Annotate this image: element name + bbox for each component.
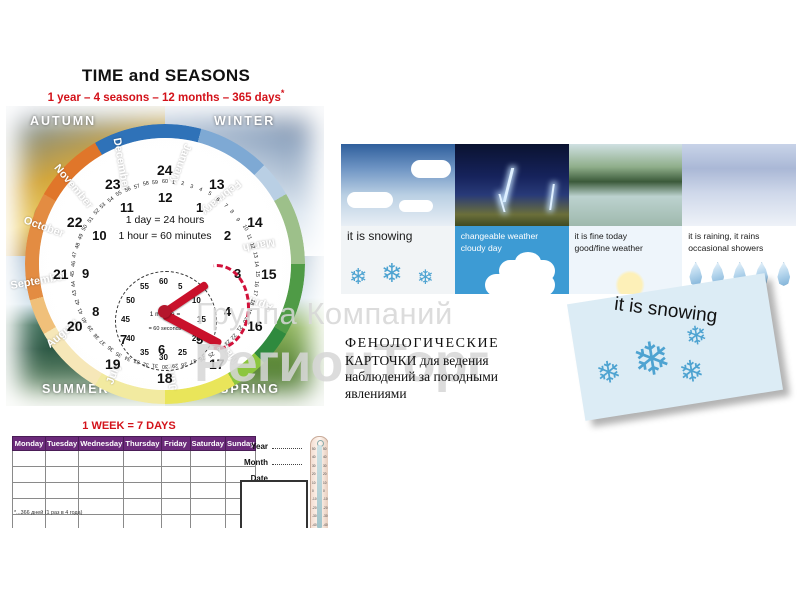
thermometer-tick: 30	[312, 464, 316, 468]
week-header-thursday: Thursday	[124, 437, 161, 451]
year-label: Year	[240, 442, 268, 451]
snowflake-icon: ❄	[349, 266, 367, 288]
table-cell[interactable]	[161, 483, 190, 499]
thermometer-tick: -40	[312, 523, 317, 527]
snowflake-icon: ❄	[629, 333, 674, 384]
thermometer-tick: -20	[323, 506, 328, 510]
hour-outer-20: 20	[67, 318, 83, 334]
clock-hub	[158, 305, 171, 318]
thermometer-tick: 50	[323, 447, 327, 451]
week-header-friday: Friday	[161, 437, 190, 451]
product-description: ФЕНОЛОГИЧЕСКИЕ КАРТОЧКИ для ведения набл…	[345, 336, 595, 402]
weather-card-line-2: good/fine weather	[575, 242, 677, 254]
table-cell[interactable]	[124, 451, 161, 467]
table-cell[interactable]	[79, 499, 124, 515]
minute-tick-45: 45	[70, 271, 76, 277]
subdial-mark-55: 55	[140, 282, 149, 291]
hour-inner-9: 9	[82, 266, 89, 281]
sun-icon	[615, 270, 645, 294]
minute-tick-1: 1	[171, 179, 175, 185]
poster-subtitle-text: 1 year – 4 seasons – 12 months – 365 day…	[48, 92, 281, 104]
thermometer-tick: -30	[323, 514, 328, 518]
thermometer-tick: 20	[323, 472, 327, 476]
week-header-wednesday: Wednesday	[79, 437, 124, 451]
weather-card-label: it is snowing	[347, 230, 449, 242]
table-header-row: MondayTuesdayWednesdayThursdayFridaySatu…	[13, 437, 256, 451]
thermometer-tick: -20	[312, 506, 317, 510]
weather-card-line-1: it is fine today	[575, 230, 677, 242]
weather-card-line-2: cloudy day	[461, 242, 563, 254]
photo-lake-forest	[569, 144, 683, 226]
hour-outer-13: 13	[209, 176, 225, 192]
minute-tick-44: 44	[70, 280, 77, 287]
cloud-shape	[411, 160, 451, 178]
table-cell[interactable]	[79, 515, 124, 529]
snowflake-icon: ❄	[417, 268, 434, 288]
subdial-mark-5: 5	[178, 282, 182, 291]
center-line-1: 1 day = 24 hours	[6, 214, 324, 226]
subdial-mark-30: 30	[159, 353, 168, 362]
table-cell[interactable]	[161, 499, 190, 515]
poster-subtitle: 1 year – 4 seasons – 12 months – 365 day…	[4, 88, 328, 104]
table-cell[interactable]	[124, 499, 161, 515]
table-body	[13, 451, 256, 529]
snowflake-icon: ❄	[677, 356, 707, 390]
thermometer-tick: 0	[312, 489, 314, 493]
table-cell[interactable]	[79, 483, 124, 499]
description-line-4: явлениями	[345, 386, 595, 403]
season-label-winter: WINTER	[214, 114, 275, 128]
subdial-mark-35: 35	[140, 348, 149, 357]
week-title: 1 WEEK = 7 DAYS	[4, 420, 254, 432]
weather-card-label: changeable weather cloudy day	[461, 230, 563, 254]
cloud-icon	[485, 274, 555, 294]
table-cell[interactable]	[124, 483, 161, 499]
thermometer-tick: -10	[312, 497, 317, 501]
table-cell[interactable]	[161, 515, 190, 529]
subtitle-asterisk: *	[281, 88, 285, 98]
table-cell[interactable]	[79, 451, 124, 467]
thermometer-tick: 20	[312, 472, 316, 476]
table-cell[interactable]	[190, 467, 226, 483]
lightning-icon	[503, 168, 514, 202]
table-row	[13, 483, 256, 499]
thermometer-tick: 40	[312, 455, 316, 459]
raindrop-icon	[776, 262, 791, 286]
table-row	[13, 467, 256, 483]
hour-outer-18: 18	[157, 370, 173, 386]
snowflake-icon: ❄	[594, 357, 624, 391]
cloud-shape	[347, 192, 393, 208]
photo-snowy-forest	[682, 144, 796, 226]
table-cell[interactable]	[190, 515, 226, 529]
thermometer-tick: 40	[323, 455, 327, 459]
weather-card-label: it is fine today good/fine weather	[575, 230, 677, 254]
table-cell[interactable]	[13, 515, 46, 529]
minute-tick-46: 46	[70, 261, 77, 268]
thermometer-tick: -10	[323, 497, 328, 501]
year-field-row[interactable]: Year	[240, 440, 302, 451]
hour-outer-24: 24	[157, 162, 173, 178]
table-cell[interactable]	[46, 483, 79, 499]
table-cell[interactable]	[190, 483, 226, 499]
minute-tick-58: 58	[142, 180, 149, 187]
minute-tick-48: 48	[74, 242, 82, 250]
minute-tick-14: 14	[253, 261, 260, 268]
minute-tick-59: 59	[152, 179, 159, 186]
description-line-3: наблюдений за погодными	[345, 369, 595, 386]
month-label: Month	[240, 458, 268, 467]
description-line-1: ФЕНОЛОГИЧЕСКИЕ	[345, 336, 595, 353]
table-cell[interactable]	[13, 483, 46, 499]
table-cell[interactable]	[46, 451, 79, 467]
page-title: TIME and SEASONS	[4, 66, 328, 86]
subdial-mark-60: 60	[159, 277, 168, 286]
subdial-mark-25: 25	[178, 348, 187, 357]
week-header-tuesday: Tuesday	[46, 437, 79, 451]
thermometer-tick: 30	[323, 464, 327, 468]
hour-outer-21: 21	[53, 266, 69, 282]
minute-tick-57: 57	[133, 183, 141, 191]
snowing-sample-card[interactable]: ❄ ❄ ❄ ❄	[567, 273, 783, 421]
thermometer-tick: -30	[312, 514, 317, 518]
cloud-icon	[515, 252, 541, 272]
hour-inner-8: 8	[92, 304, 99, 319]
thermometer-tick: 10	[312, 481, 316, 485]
week-header-saturday: Saturday	[190, 437, 226, 451]
table-cell[interactable]	[161, 451, 190, 467]
minute-tick-17: 17	[251, 290, 258, 297]
table-cell[interactable]	[161, 467, 190, 483]
subdial-mark-15: 15	[197, 315, 206, 324]
weather-card-line-1: it is raining, it rains	[688, 230, 790, 242]
description-line-2: КАРТОЧКИ для ведения	[345, 353, 595, 370]
photo-thunderstorm	[455, 144, 569, 226]
minute-tick-15: 15	[254, 271, 260, 277]
table-row	[13, 515, 256, 529]
seasons-wheel: AUTUMN WINTER SUMMER SPRING JanuaryFebru…	[6, 106, 324, 406]
table-cell[interactable]	[13, 451, 46, 467]
weather-card-line-1: changeable weather	[461, 230, 563, 242]
time-and-seasons-poster: TIME and SEASONS 1 year – 4 seasons – 12…	[4, 58, 328, 528]
thermometer-icon: 5050404030302020101000-10-10-20-20-30-30…	[310, 436, 328, 528]
drawing-box[interactable]	[240, 480, 308, 528]
weather-card-snowing[interactable]: it is snowing ❄ ❄ ❄	[341, 226, 455, 294]
minute-tick-60: 60	[162, 179, 168, 185]
thermometer-tick: -40	[323, 523, 328, 527]
table-cell[interactable]	[79, 467, 124, 483]
thermometer-tick: 50	[312, 447, 316, 451]
weather-photo-strip	[341, 144, 796, 226]
weather-card-label: it is raining, it rains occasional showe…	[688, 230, 790, 254]
hour-outer-16: 16	[247, 318, 263, 334]
subdial-mark-40: 40	[126, 334, 135, 343]
table-cell[interactable]	[46, 515, 79, 529]
weather-card-line-2: occasional showers	[688, 242, 790, 254]
thermometer-tick: 10	[323, 481, 327, 485]
footnote: *...366 дней (1 раз в 4 года)	[14, 510, 82, 516]
table-cell[interactable]	[124, 467, 161, 483]
month-field-row[interactable]: Month	[240, 456, 302, 467]
hour-outer-15: 15	[261, 266, 277, 282]
table-cell[interactable]	[190, 499, 226, 515]
lightning-icon	[549, 184, 555, 210]
subdial-mark-50: 50	[126, 296, 135, 305]
photo-clouds	[341, 144, 455, 226]
weather-card-changeable[interactable]: changeable weather cloudy day	[455, 226, 569, 294]
weather-card-fine[interactable]: it is fine today good/fine weather	[569, 226, 683, 294]
cloud-shape	[399, 200, 433, 212]
subdial-mark-45: 45	[121, 315, 130, 324]
hour-inner-1: 1	[196, 200, 203, 215]
table-cell[interactable]	[13, 467, 46, 483]
thermometer-tick: 0	[323, 489, 325, 493]
center-line-2: 1 hour = 60 minutes	[6, 230, 324, 242]
minute-tick-47: 47	[71, 251, 78, 258]
snowflake-icon: ❄	[381, 260, 403, 286]
week-header-monday: Monday	[13, 437, 46, 451]
year-input[interactable]	[272, 440, 302, 449]
hour-inner-11: 11	[120, 200, 134, 215]
table-row	[13, 451, 256, 467]
table-cell[interactable]	[124, 515, 161, 529]
hour-inner-12: 12	[158, 190, 172, 205]
thermometer-column	[317, 445, 322, 528]
table-cell[interactable]	[46, 467, 79, 483]
table-cell[interactable]	[190, 451, 226, 467]
month-input[interactable]	[272, 456, 302, 465]
minute-tick-13: 13	[251, 251, 258, 258]
season-label-autumn: AUTUMN	[30, 114, 96, 128]
minute-tick-16: 16	[253, 280, 260, 287]
